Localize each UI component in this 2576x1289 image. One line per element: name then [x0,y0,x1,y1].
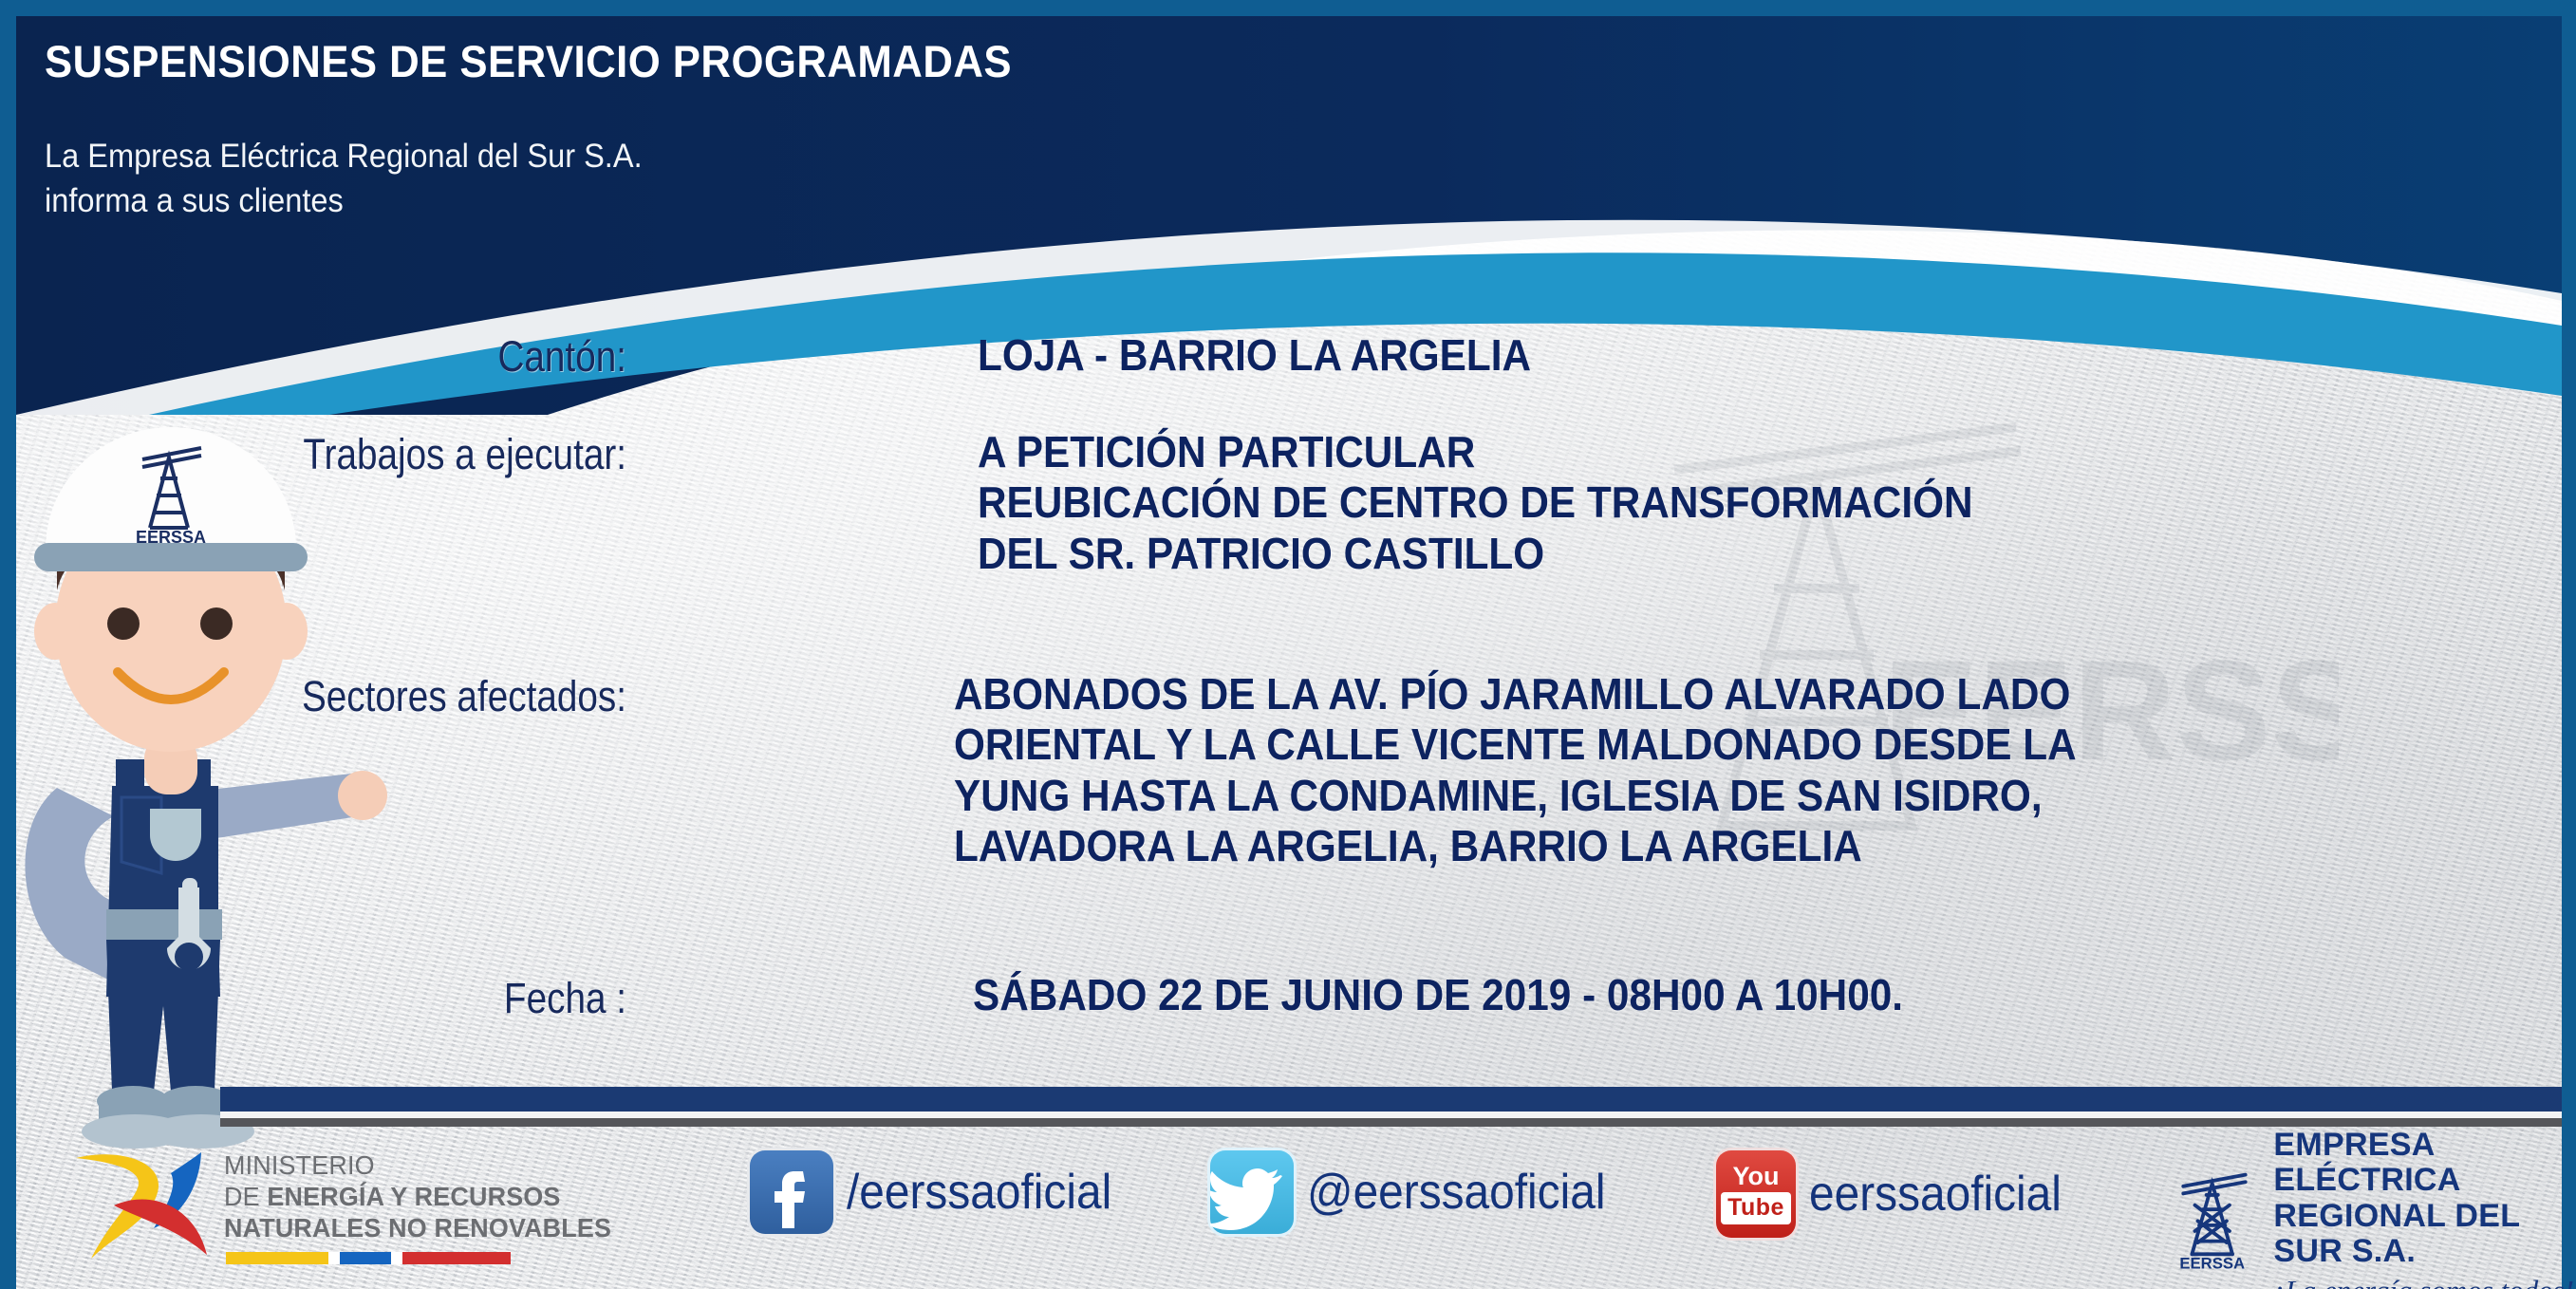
twitter-handle[interactable]: @eerssaoficial [1307,1164,1605,1221]
facebook-icon[interactable] [750,1150,833,1234]
company-line-1: EMPRESA ELÉCTRICA [2273,1128,2576,1199]
ministry-line-2-thin: DE [224,1182,267,1211]
company-name: EMPRESA ELÉCTRICA REGIONAL DEL SUR S.A. … [2273,1128,2576,1289]
value-canton: LOJA - BARRIO LA ARGELIA [978,330,1579,381]
social-facebook[interactable]: /eerssaoficial [750,1150,1134,1234]
poster-root: EERSSA SUSPENSIONES DE SERVICIO PROGRAMA… [0,0,2576,1289]
youtube-badge-top: You [1733,1164,1780,1189]
value-trabajos: A PETICIÓN PARTICULAR REUBICACIÓN DE CEN… [978,427,2060,579]
social-twitter[interactable]: @eerssaoficial [1210,1150,1632,1234]
power-tower-icon: EERSSA [2166,1145,2258,1287]
company-line-2: REGIONAL DEL SUR S.A. [2273,1199,2576,1270]
footer: MINISTERIO DE ENERGÍA Y RECURSOS NATURAL… [0,1130,2576,1289]
company-logo: EERSSA EMPRESA ELÉCTRICA REGIONAL DEL SU… [2166,1128,2576,1289]
youtube-badge-bottom: Tube [1721,1192,1791,1224]
ministry-line-2-bold: ENERGÍA Y RECURSOS [267,1182,560,1211]
youtube-icon[interactable]: You Tube [1716,1150,1796,1238]
label-fecha: Fecha : [247,976,626,1021]
youtube-handle[interactable]: eerssaoficial [1809,1166,2062,1223]
footer-separator-gray [220,1118,2562,1127]
footer-separator-white [220,1112,2562,1118]
label-sectores: Sectores afectados: [190,674,626,719]
twitter-icon[interactable] [1210,1150,1294,1234]
ministry-line-3: NATURALES NO RENOVABLES [224,1213,611,1244]
footer-separator-navy [220,1087,2562,1112]
tower-label: EERSSA [2179,1255,2245,1273]
label-trabajos: Trabajos a ejecutar: [190,432,626,477]
ministry-line-2: DE ENERGÍA Y RECURSOS [224,1182,611,1213]
company-slogan: ¡La energía somos todos! [2273,1276,2576,1289]
value-fecha: SÁBADO 22 DE JUNIO DE 2019 - 08H00 A 10H… [973,970,1984,1020]
ecuador-flag-bar [226,1252,511,1264]
ministry-logo-icon [57,1130,228,1281]
value-sectores: ABONADOS DE LA AV. PÍO JARAMILLO ALVARAD… [954,669,2175,871]
label-canton: Cantón: [247,334,626,380]
ministry-name: MINISTERIO DE ENERGÍA Y RECURSOS NATURAL… [224,1150,611,1243]
facebook-handle[interactable]: /eerssaoficial [847,1164,1111,1221]
social-youtube[interactable]: You Tube eerssaoficial [1716,1150,2083,1238]
ministry-line-1: MINISTERIO [224,1150,611,1182]
